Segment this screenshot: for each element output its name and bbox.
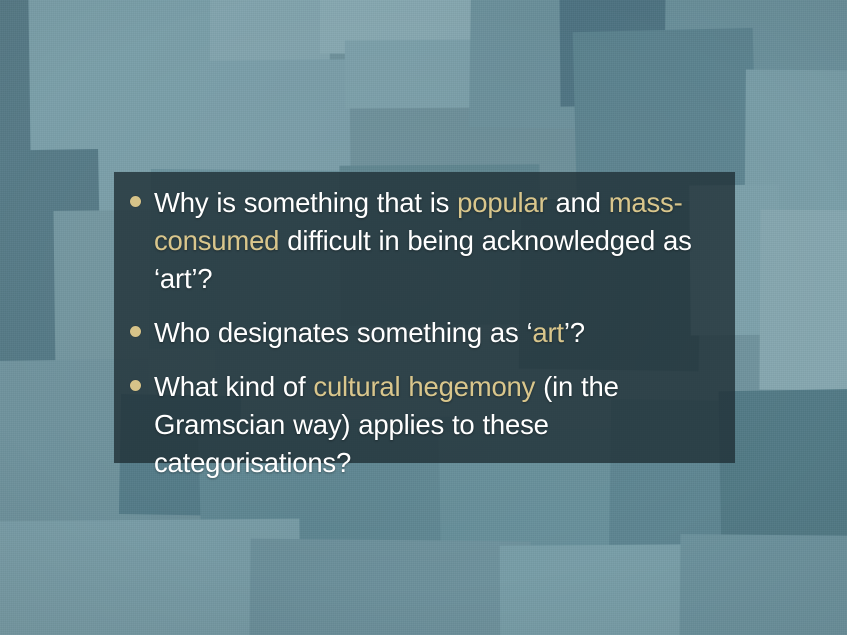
list-item: What kind of cultural hegemony (in the G…	[122, 368, 719, 482]
bullet-dot-icon	[130, 196, 141, 207]
bullet-2-seg-1-highlight: art	[532, 317, 564, 348]
bullet-1-seg-0: Why is something that is	[154, 187, 457, 218]
list-item: Who designates something as ‘art’?	[122, 314, 719, 352]
bullet-3-seg-0: What kind of	[154, 371, 313, 402]
bullet-text-3: What kind of cultural hegemony (in the G…	[154, 368, 719, 482]
bullet-1-seg-2: and	[548, 187, 609, 218]
bullet-dot-icon	[130, 380, 141, 391]
content-panel: Why is something that is popular and mas…	[114, 172, 735, 463]
bullet-1-seg-1-highlight: popular	[457, 187, 547, 218]
list-item: Why is something that is popular and mas…	[122, 184, 719, 298]
bullet-text-2: Who designates something as ‘art’?	[154, 314, 719, 352]
bullet-2-seg-0: Who designates something as ‘	[154, 317, 532, 348]
bullet-3-seg-1-highlight: cultural hegemony	[313, 371, 535, 402]
bullet-2-seg-2: ’?	[564, 317, 585, 348]
bullet-text-1: Why is something that is popular and mas…	[154, 184, 719, 298]
presentation-slide: Why is something that is popular and mas…	[0, 0, 847, 635]
bullet-dot-icon	[130, 326, 141, 337]
